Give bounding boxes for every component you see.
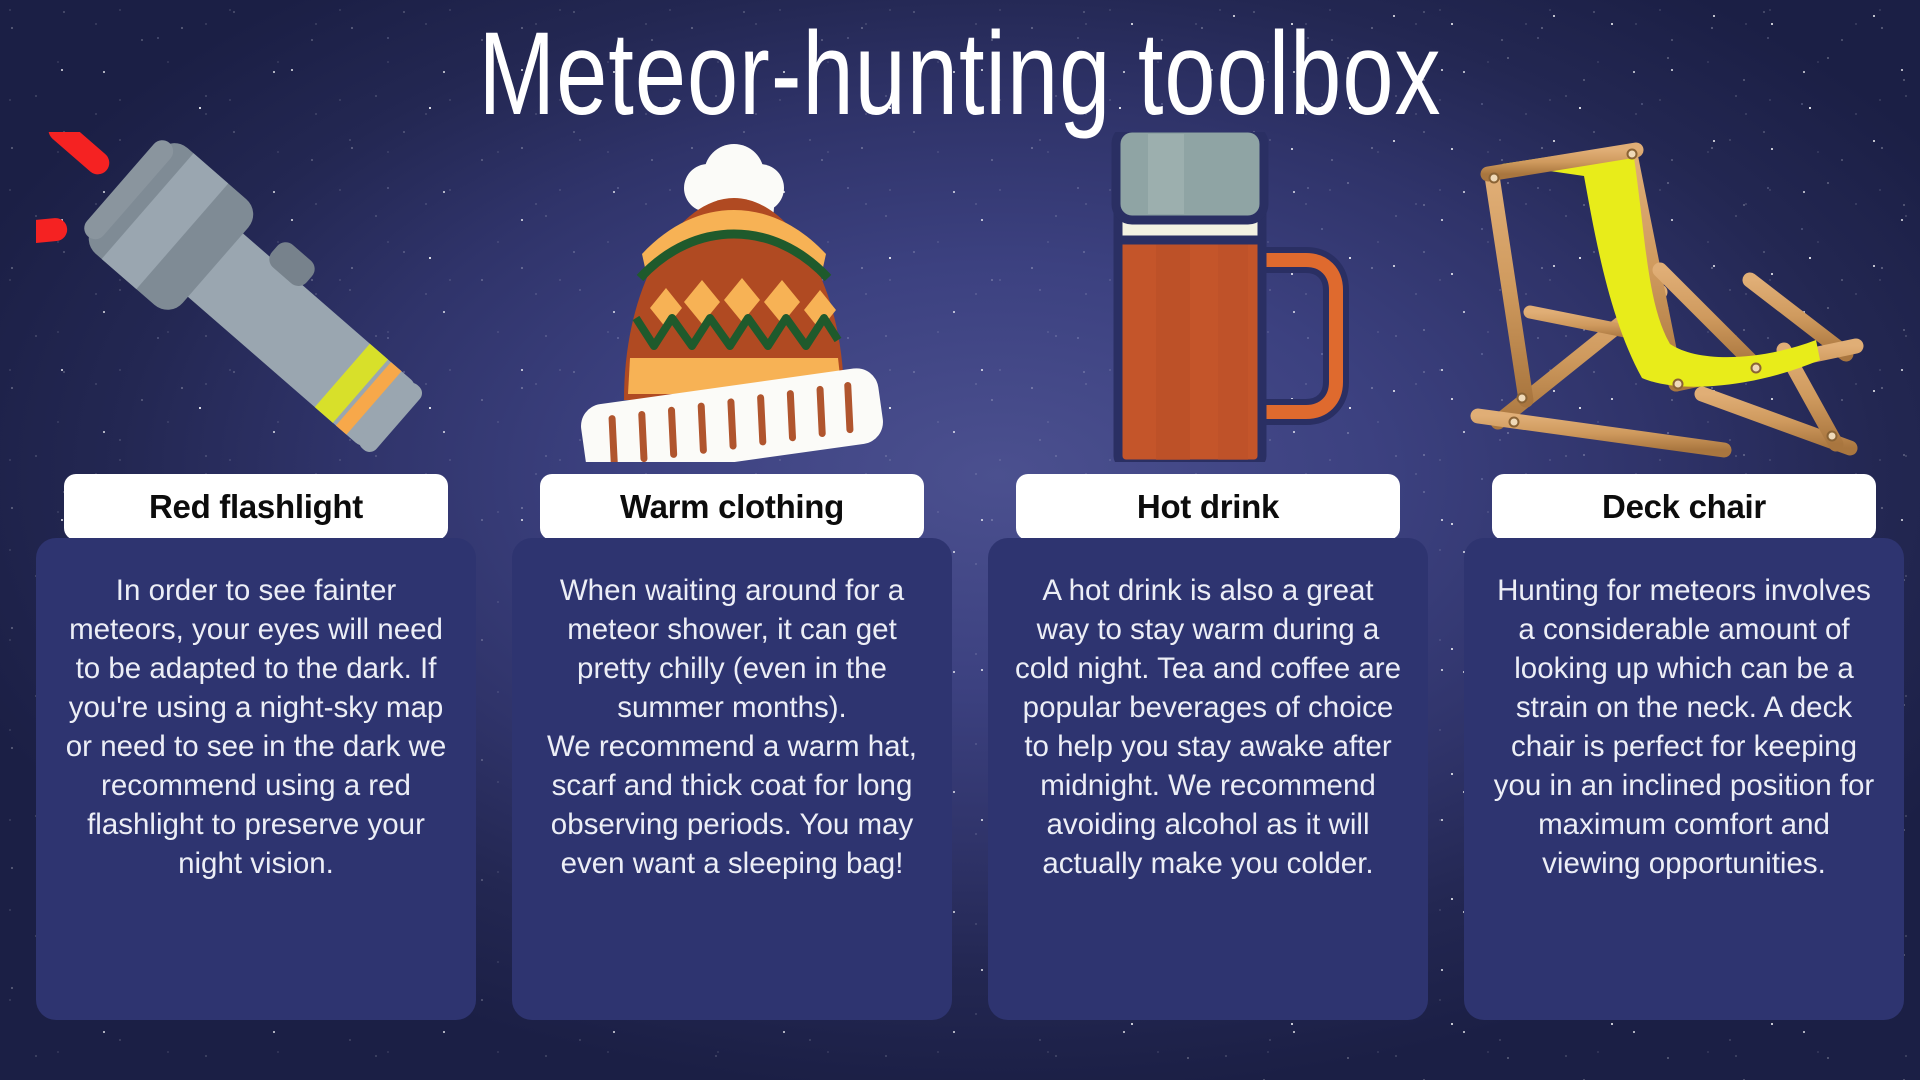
- card-heading-text: Warm clothing: [620, 488, 844, 526]
- card-hot-drink[interactable]: Hot drink A hot drink is also a great wa…: [988, 0, 1428, 1080]
- card-body-text: When waiting around for a meteor shower,…: [538, 572, 926, 884]
- card-body-warm-clothing: When waiting around for a meteor shower,…: [512, 538, 952, 1020]
- card-heading-deck-chair: Deck chair: [1492, 474, 1876, 540]
- cards-row: Red flashlight In order to see fainter m…: [0, 0, 1920, 1080]
- infographic-poster: Meteor-hunting toolbox: [0, 0, 1920, 1080]
- card-heading-red-flashlight: Red flashlight: [64, 474, 448, 540]
- deck-chair-icon: [1464, 132, 1904, 462]
- card-red-flashlight[interactable]: Red flashlight In order to see fainter m…: [36, 0, 476, 1080]
- card-heading-warm-clothing: Warm clothing: [540, 474, 924, 540]
- card-body-text: In order to see fainter meteors, your ey…: [62, 572, 450, 884]
- card-body-text: A hot drink is also a great way to stay …: [1014, 572, 1402, 884]
- card-body-deck-chair: Hunting for meteors involves a considera…: [1464, 538, 1904, 1020]
- red-flashlight-icon: [36, 132, 476, 462]
- thermos-flask-icon: [988, 132, 1428, 462]
- card-warm-clothing[interactable]: Warm clothing When waiting around for a …: [512, 0, 952, 1080]
- card-heading-text: Red flashlight: [149, 488, 363, 526]
- card-body-text: Hunting for meteors involves a considera…: [1490, 572, 1878, 884]
- card-body-hot-drink: A hot drink is also a great way to stay …: [988, 538, 1428, 1020]
- winter-hat-icon: [512, 132, 952, 462]
- card-body-red-flashlight: In order to see fainter meteors, your ey…: [36, 538, 476, 1020]
- card-heading-text: Hot drink: [1137, 488, 1279, 526]
- card-heading-text: Deck chair: [1602, 488, 1766, 526]
- card-deck-chair[interactable]: Deck chair Hunting for meteors involves …: [1464, 0, 1904, 1080]
- card-heading-hot-drink: Hot drink: [1016, 474, 1400, 540]
